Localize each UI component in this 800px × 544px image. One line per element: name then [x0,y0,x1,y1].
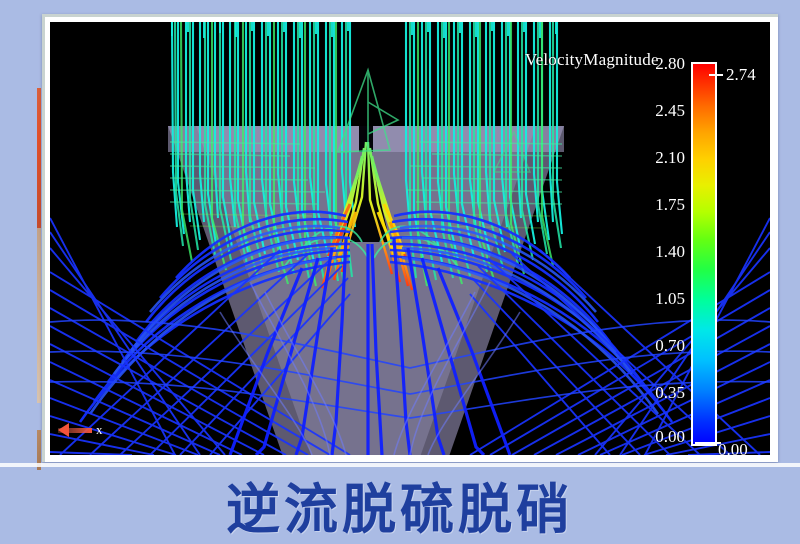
figure-root: VelocityMagnitude 2.80 2.45 2.10 1.75 1.… [0,0,800,542]
window-edge-strip-tan [37,228,41,403]
scalar-bar-max-marker [709,74,723,76]
scalar-bar-gradient[interactable] [691,62,717,446]
scalar-bar-tick-7: 0.35 [625,383,685,403]
scalar-bar-tick-5: 1.05 [625,289,685,309]
scalar-bar-ticks: 2.80 2.45 2.10 1.75 1.40 1.05 0.70 0.35 … [610,22,685,455]
scalar-bar-tick-4: 1.40 [625,242,685,262]
scalar-bar-tick-3: 1.75 [625,195,685,215]
scalar-bar-max-value: 2.74 [726,65,756,85]
figure-caption: 逆流脱硫脱硝 [0,466,800,542]
scalar-bar-tick-0: 2.80 [625,54,685,74]
render-viewport[interactable]: VelocityMagnitude 2.80 2.45 2.10 1.75 1.… [50,22,770,455]
orientation-axes-widget[interactable]: x [58,412,118,452]
scalar-bar-tick-2: 2.10 [625,148,685,168]
axis-arrowhead-x [58,423,69,437]
window-edge-strip-red [37,88,41,228]
scalar-bar-tick-1: 2.45 [625,101,685,121]
scalar-bar-min-value: 0.00 [718,440,748,455]
axis-label-x: x [96,422,103,438]
scalar-bar-tick-8: 0.00 [625,427,685,447]
scalar-bar-tick-6: 0.70 [625,336,685,356]
